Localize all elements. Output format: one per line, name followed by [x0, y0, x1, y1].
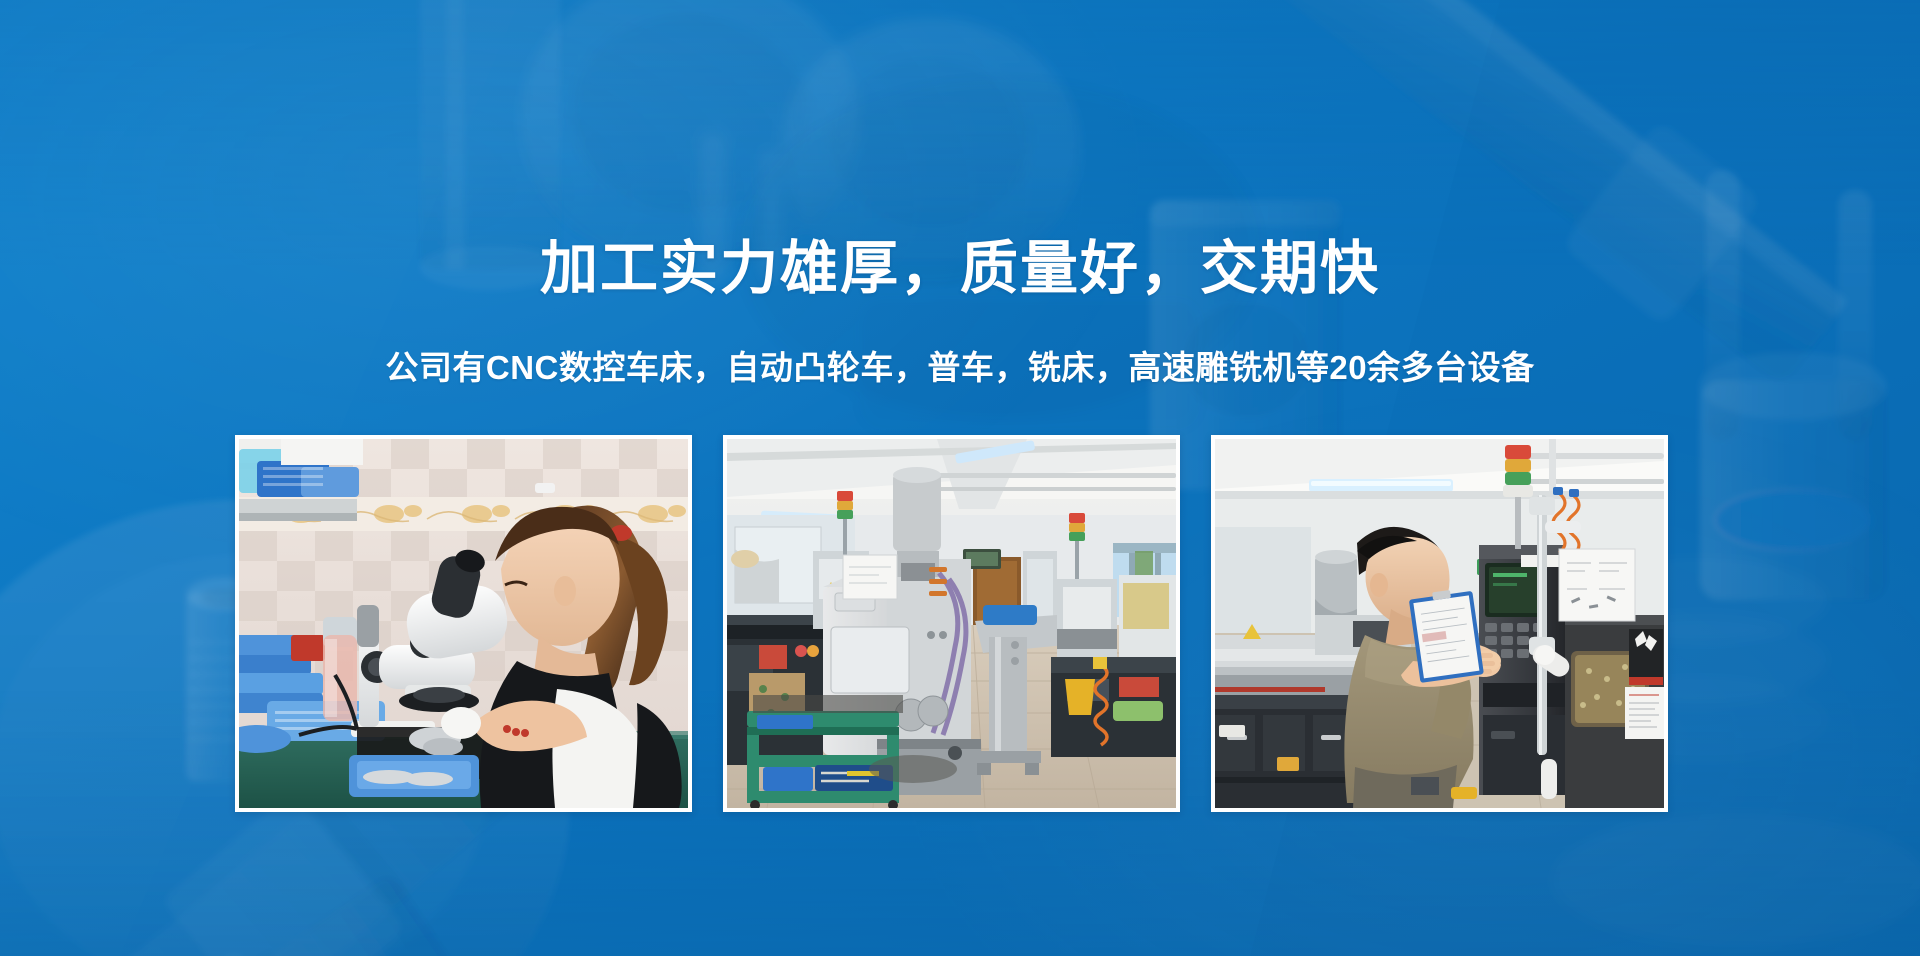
photo-cnc-machine-workshop: MAX — [727, 439, 1176, 808]
photo-card-cnc-operator[interactable] — [1211, 435, 1668, 812]
photo-cnc-operator-control-panel — [1215, 439, 1664, 808]
photo-gallery: MAX — [235, 435, 1668, 812]
banner-subtitle: 公司有CNC数控车床，自动凸轮车，普车，铣床，高速雕铣机等20余多台设备 — [0, 346, 1920, 390]
photo-card-cnc-workshop[interactable]: MAX — [723, 435, 1180, 812]
photo-card-quality-inspection[interactable] — [235, 435, 692, 812]
banner-title: 加工实力雄厚，质量好，交期快 — [0, 236, 1920, 302]
promo-banner: 加工实力雄厚，质量好，交期快 公司有CNC数控车床，自动凸轮车，普车，铣床，高速… — [0, 0, 1920, 956]
photo-quality-inspection-microscope — [239, 439, 688, 808]
